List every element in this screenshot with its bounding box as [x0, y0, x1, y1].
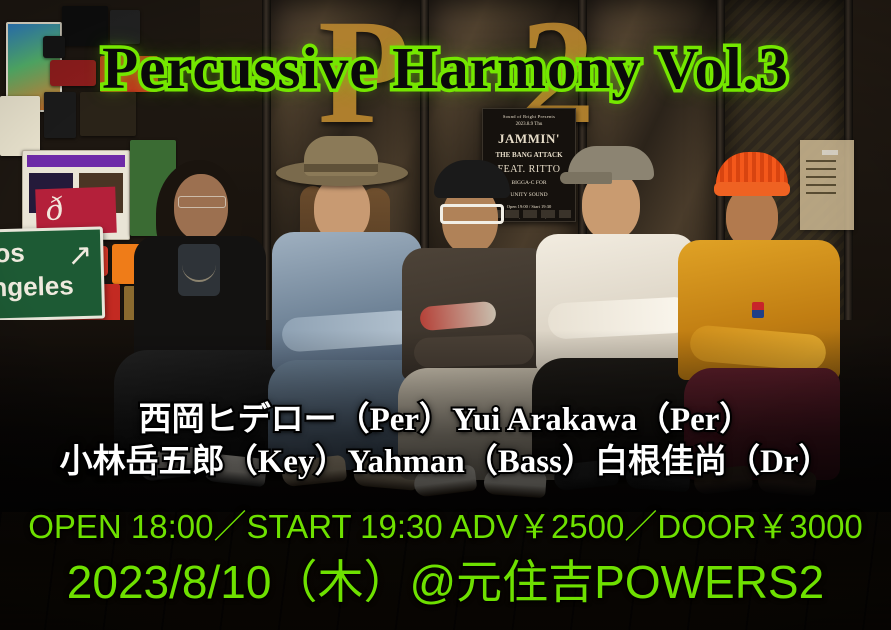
- text-overlay: Percussive Harmony Vol.3 西岡ヒデロー（Per）Yui …: [0, 0, 891, 630]
- performers-line-1: 西岡ヒデロー（Per）Yui Arakawa（Per）: [0, 392, 891, 440]
- show-times-and-prices: OPEN 18:00／START 19:30 ADV￥2500／DOOR￥300…: [0, 500, 891, 548]
- event-flyer: P 2 ð os ↗ ngeles: [0, 0, 891, 630]
- event-title: Percussive Harmony Vol.3: [0, 34, 891, 103]
- event-date-and-venue: 2023/8/10（木）@元住吉POWERS2: [0, 546, 891, 612]
- performers-line-2: 小林岳五郎（Key）Yahman（Bass）白根佳尚（Dr）: [0, 434, 891, 482]
